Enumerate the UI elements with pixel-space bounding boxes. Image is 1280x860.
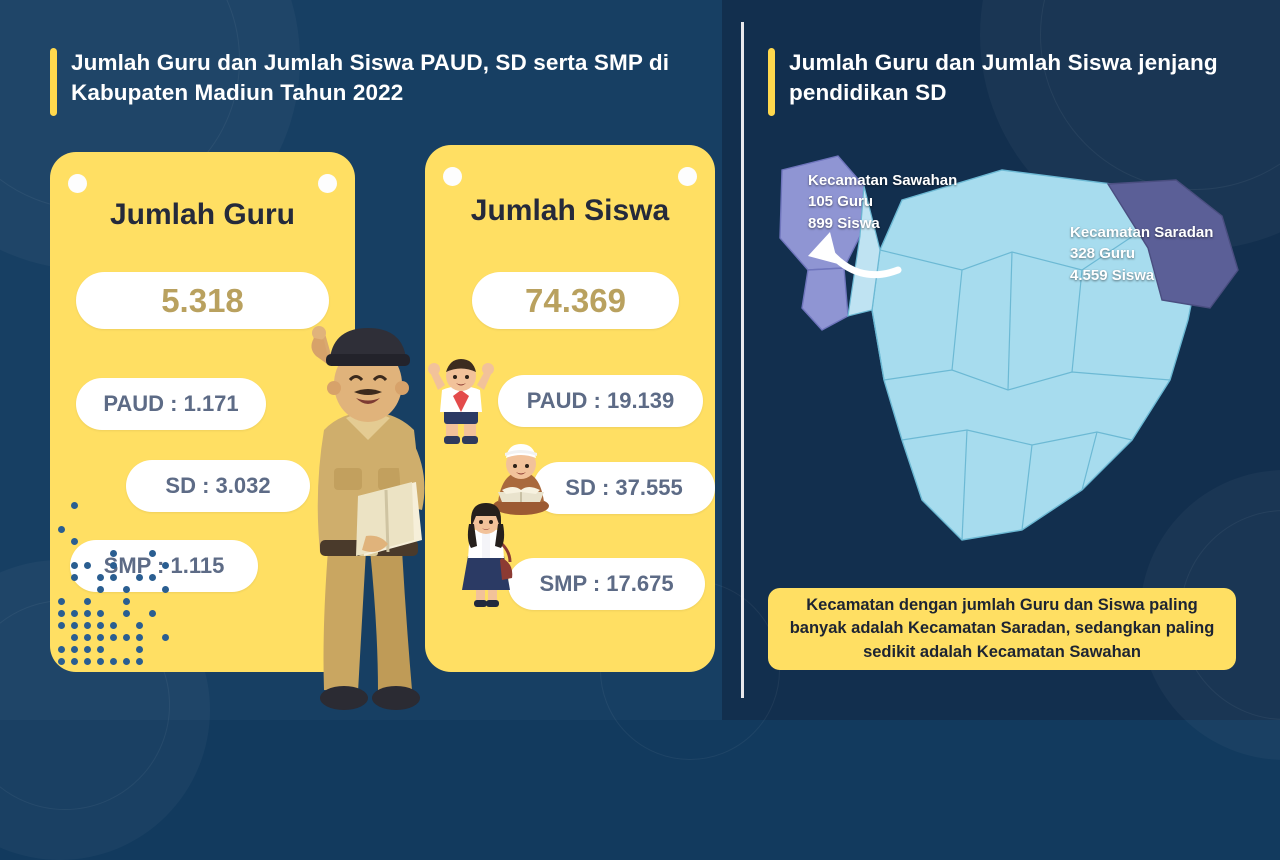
panel-divider xyxy=(741,22,744,698)
title-accent-bar xyxy=(768,48,775,116)
card-notch-left xyxy=(68,174,87,193)
right-panel-title-text: Jumlah Guru dan Jumlah Siswa jenjang pen… xyxy=(789,48,1238,116)
right-panel-title: Jumlah Guru dan Jumlah Siswa jenjang pen… xyxy=(768,48,1238,116)
card-notch-right xyxy=(678,167,697,186)
card-guru-heading: Jumlah Guru xyxy=(50,198,355,232)
card-notch-right xyxy=(318,174,337,193)
card-notch-left xyxy=(443,167,462,186)
map-region-sawahan-lower xyxy=(802,268,848,330)
card-siswa-item-sd: SD : 37.555 xyxy=(533,462,715,514)
summary-note-box: Kecamatan dengan jumlah Guru dan Siswa p… xyxy=(768,588,1236,670)
summary-note-text: Kecamatan dengan jumlah Guru dan Siswa p… xyxy=(782,594,1222,664)
map-label-sawahan-guru: 105 Guru xyxy=(808,191,957,212)
child-smp-illustration xyxy=(452,500,520,610)
map-label-sawahan-name: Kecamatan Sawahan xyxy=(808,170,957,191)
card-siswa-heading: Jumlah Siswa xyxy=(425,194,715,228)
card-guru-item-paud: PAUD : 1.171 xyxy=(76,378,266,430)
title-accent-bar xyxy=(50,48,57,116)
map-label-sawahan: Kecamatan Sawahan 105 Guru 899 Siswa xyxy=(808,170,957,234)
left-panel-title: Jumlah Guru dan Jumlah Siswa PAUD, SD se… xyxy=(50,48,710,116)
map-label-saradan-guru: 328 Guru xyxy=(1070,243,1213,264)
left-panel-title-text: Jumlah Guru dan Jumlah Siswa PAUD, SD se… xyxy=(71,48,710,116)
child-paud-illustration xyxy=(424,356,498,446)
map-label-saradan: Kecamatan Saradan 328 Guru 4.559 Siswa xyxy=(1070,222,1213,286)
map-label-saradan-name: Kecamatan Saradan xyxy=(1070,222,1213,243)
card-siswa-item-paud: PAUD : 19.139 xyxy=(498,375,703,427)
map-label-saradan-siswa: 4.559 Siswa xyxy=(1070,265,1213,286)
card-siswa-total: 74.369 xyxy=(472,272,679,329)
card-siswa-item-smp: SMP : 17.675 xyxy=(508,558,705,610)
decorative-dot-pattern xyxy=(58,478,178,668)
map-label-sawahan-siswa: 899 Siswa xyxy=(808,213,957,234)
